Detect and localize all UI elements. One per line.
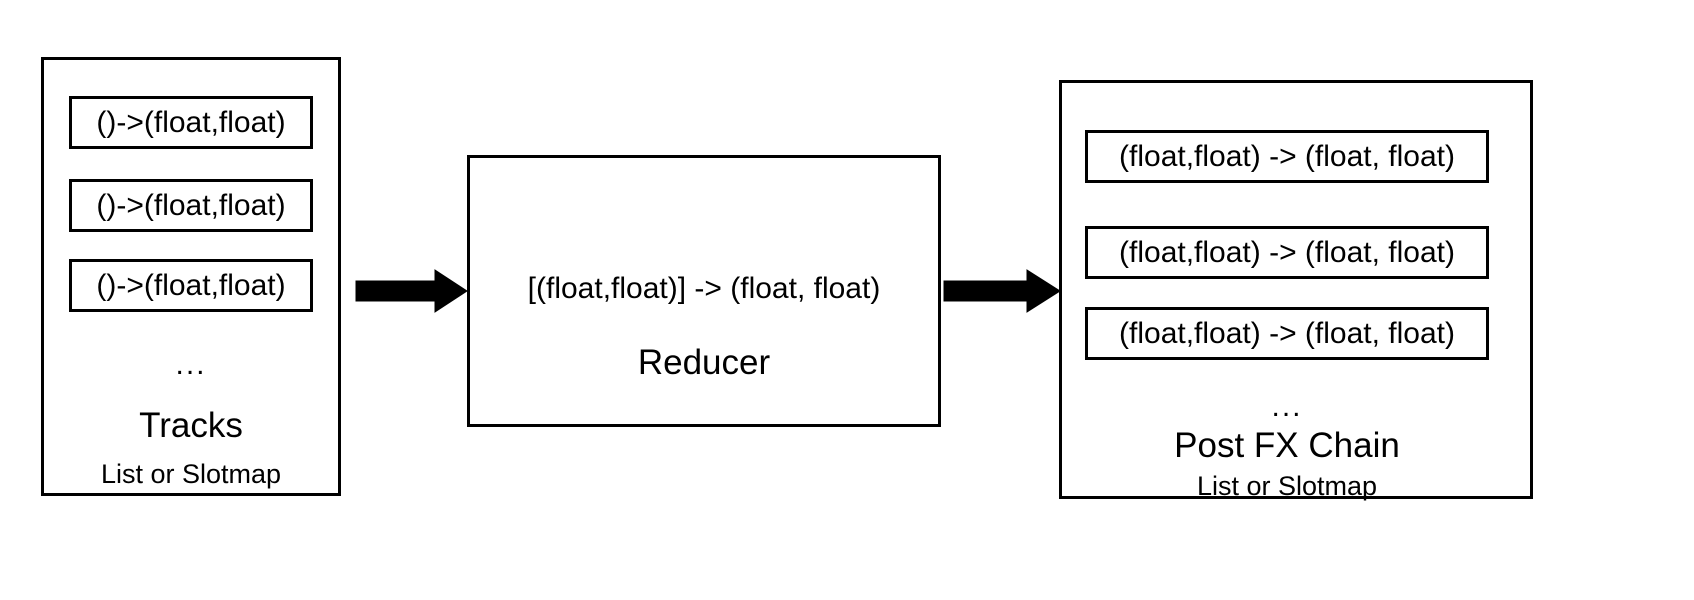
fx-slot-1-label: (float,float) -> (float, float) <box>1119 142 1455 172</box>
track-slot-1[interactable]: ()->(float,float) <box>69 96 313 149</box>
postfx-caption-title: Post FX Chain <box>1085 428 1489 463</box>
tracks-caption-title: Tracks <box>41 408 341 443</box>
fx-slot-2[interactable]: (float,float) -> (float, float) <box>1085 226 1489 279</box>
tracks-ellipsis: ... <box>41 350 341 380</box>
fx-slot-3-label: (float,float) -> (float, float) <box>1119 319 1455 349</box>
diagram-canvas: ()->(float,float) ()->(float,float) ()->… <box>0 0 1694 600</box>
tracks-caption-subtitle: List or Slotmap <box>41 461 341 488</box>
track-slot-2-label: ()->(float,float) <box>96 191 285 221</box>
fx-slot-2-label: (float,float) -> (float, float) <box>1119 238 1455 268</box>
track-slot-2[interactable]: ()->(float,float) <box>69 179 313 232</box>
fx-slot-3[interactable]: (float,float) -> (float, float) <box>1085 307 1489 360</box>
fx-slot-1[interactable]: (float,float) -> (float, float) <box>1085 130 1489 183</box>
arrow-reducer-to-postfx <box>944 270 1060 312</box>
track-slot-3-label: ()->(float,float) <box>96 271 285 301</box>
reducer-signature: [(float,float)] -> (float, float) <box>467 274 941 304</box>
track-slot-1-label: ()->(float,float) <box>96 108 285 138</box>
postfx-ellipsis: ... <box>1085 392 1489 422</box>
track-slot-3[interactable]: ()->(float,float) <box>69 259 313 312</box>
arrow-tracks-to-reducer <box>356 270 467 312</box>
reducer-title: Reducer <box>467 345 941 380</box>
postfx-caption-subtitle: List or Slotmap <box>1085 473 1489 500</box>
